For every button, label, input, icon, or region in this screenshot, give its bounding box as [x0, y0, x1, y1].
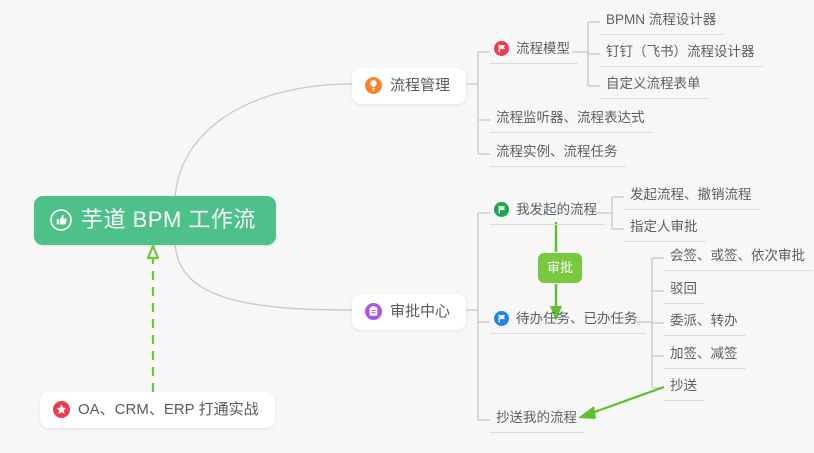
node-label: 指定人审批	[630, 219, 698, 234]
node-bpmn-designer[interactable]: BPMN 流程设计器	[600, 13, 724, 35]
node-label: 钉钉（飞书）流程设计器	[606, 44, 755, 59]
node-start-cancel-flow[interactable]: 发起流程、撤销流程	[624, 188, 760, 210]
node-label: 抄送	[670, 378, 697, 393]
node-reject[interactable]: 驳回	[664, 282, 705, 304]
node-process-management[interactable]: 流程管理	[352, 68, 466, 104]
node-label: 流程实例、流程任务	[496, 144, 618, 159]
badge-label: 审批	[547, 260, 573, 275]
flag-icon	[494, 202, 509, 217]
node-custom-form[interactable]: 自定义流程表单	[600, 77, 709, 99]
node-add-remove-sign[interactable]: 加签、减签	[664, 347, 746, 369]
node-my-initiated[interactable]: 我发起的流程	[490, 202, 605, 225]
node-label: OA、CRM、ERP 打通实战	[78, 402, 259, 417]
root-label: 芋道 BPM 工作流	[81, 209, 256, 231]
node-label: BPMN 流程设计器	[606, 12, 716, 27]
node-delegate-transfer[interactable]: 委派、转办	[664, 314, 746, 336]
node-label: 流程监听器、流程表达式	[496, 110, 645, 125]
node-label: 委派、转办	[670, 313, 738, 328]
lightbulb-icon	[365, 77, 382, 94]
node-countersign[interactable]: 会签、或签、依次审批	[664, 249, 813, 271]
mindmap-canvas: 芋道 BPM 工作流 流程管理 审批中心	[0, 0, 814, 453]
node-process-instance[interactable]: 流程实例、流程任务	[490, 145, 626, 167]
node-label: 我发起的流程	[516, 203, 597, 217]
node-label: 流程模型	[516, 42, 570, 56]
clipboard-icon	[365, 303, 382, 320]
node-label: 流程管理	[390, 78, 450, 93]
node-process-model[interactable]: 流程模型	[490, 41, 578, 64]
node-approval-center[interactable]: 审批中心	[352, 294, 466, 330]
node-cc[interactable]: 抄送	[664, 379, 705, 401]
node-label: 会签、或签、依次审批	[670, 248, 805, 263]
node-assignee-approval[interactable]: 指定人审批	[624, 220, 706, 242]
node-label: 发起流程、撤销流程	[630, 187, 752, 202]
node-label: 待办任务、已办任务	[516, 312, 638, 326]
node-process-listener[interactable]: 流程监听器、流程表达式	[490, 111, 653, 133]
root-node[interactable]: 芋道 BPM 工作流	[34, 196, 276, 245]
arrow-cc-to-ccmyflow	[578, 387, 664, 419]
thumbs-up-icon	[50, 209, 72, 231]
flag-icon	[494, 41, 509, 56]
node-label: 加签、减签	[670, 346, 738, 361]
node-cc-to-me[interactable]: 抄送我的流程	[490, 411, 585, 433]
node-label: 驳回	[670, 281, 697, 296]
node-label: 审批中心	[390, 304, 450, 319]
node-label: 抄送我的流程	[496, 410, 577, 425]
flag-icon	[494, 311, 509, 326]
node-dingtalk-designer[interactable]: 钉钉（飞书）流程设计器	[600, 45, 763, 67]
arrow-practice-to-root	[148, 246, 158, 392]
node-label: 自定义流程表单	[606, 76, 701, 91]
badge-approval[interactable]: 审批	[538, 253, 582, 283]
star-icon	[53, 401, 70, 418]
node-practice[interactable]: OA、CRM、ERP 打通实战	[40, 392, 275, 428]
node-todo-done-tasks[interactable]: 待办任务、已办任务	[490, 311, 646, 334]
